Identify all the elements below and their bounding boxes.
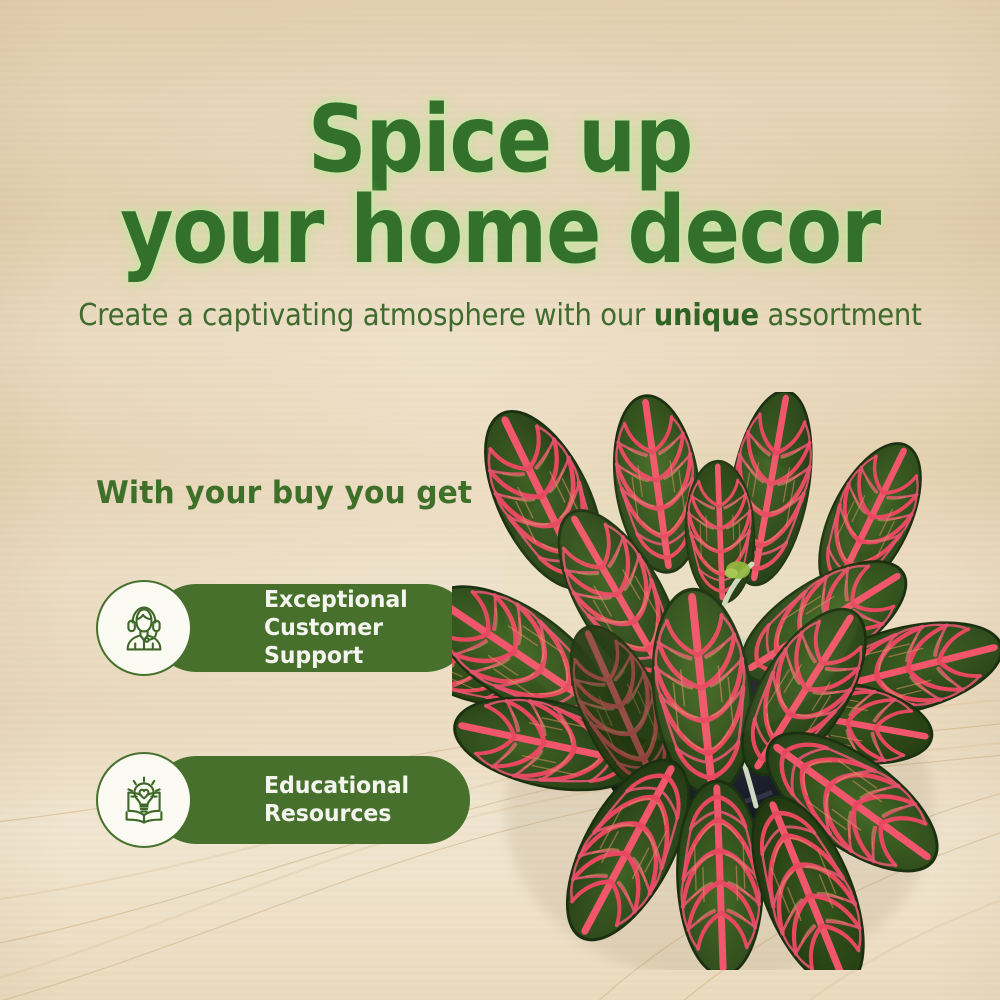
benefit-pill: Educational Resources: [152, 756, 470, 844]
benefit-item-educational-resources: Educational Resources: [96, 752, 470, 848]
page-subtitle: Create a captivating atmosphere with our…: [50, 298, 950, 333]
subtitle-text-after: assortment: [759, 298, 922, 333]
headset-support-agent-icon: [115, 599, 173, 657]
benefits-heading: With your buy you get: [96, 475, 472, 511]
fittonia-nerve-plant-photo: [452, 392, 1000, 970]
benefit-pill: Exceptional Customer Support: [152, 584, 470, 672]
benefit-label: Educational Resources: [264, 772, 409, 828]
subtitle-text-before: Create a captivating atmosphere with our: [78, 298, 653, 333]
plant-illustration: [452, 392, 1000, 970]
book-lightbulb-icon: [115, 771, 173, 829]
benefit-label: Exceptional Customer Support: [264, 586, 448, 670]
benefit-icon-badge: [96, 752, 192, 848]
benefit-icon-badge: [96, 580, 192, 676]
benefit-item-customer-support: Exceptional Customer Support: [96, 580, 470, 676]
page-title: Spice up your home decor: [60, 94, 940, 276]
subtitle-emphasis: unique: [654, 298, 759, 333]
foliage-highlight: [502, 442, 862, 742]
promo-banner: Spice up your home decor Create a captiv…: [0, 0, 1000, 1000]
